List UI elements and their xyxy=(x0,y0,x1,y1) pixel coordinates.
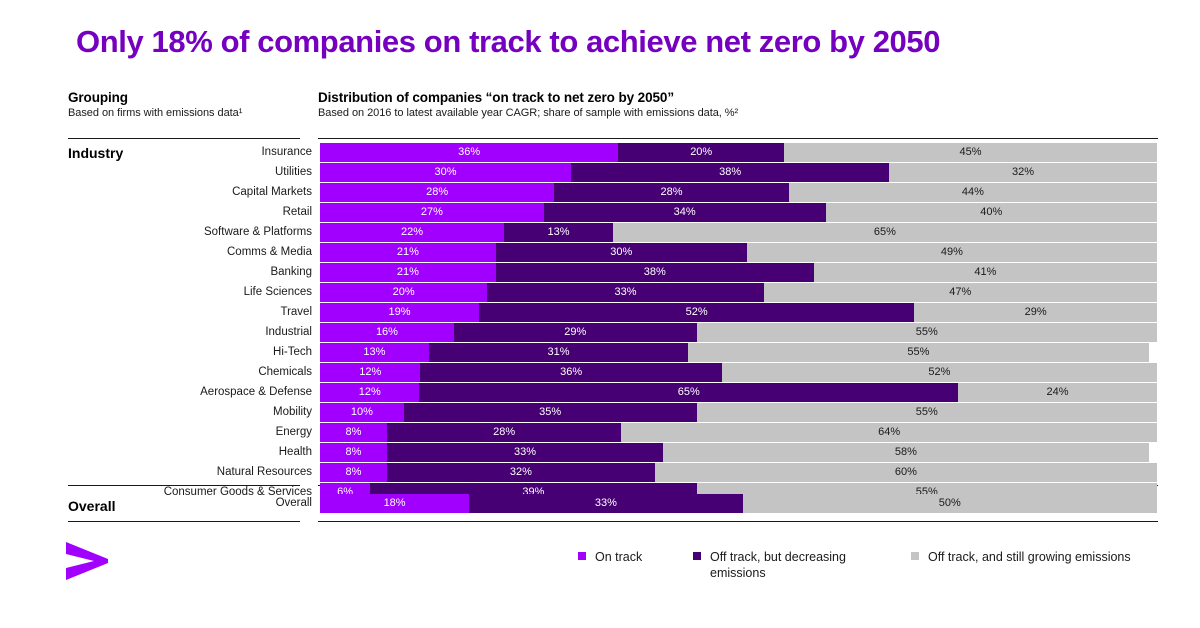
page-title: Only 18% of companies on track to achiev… xyxy=(76,24,1156,60)
bar-segment-off-track-decreasing: 33% xyxy=(387,443,663,462)
chart-row-overall: Overall18%33%50% xyxy=(0,494,1200,513)
bar-segment-on-track: 21% xyxy=(320,243,496,262)
bar-segment-off-track-growing: 41% xyxy=(814,263,1157,282)
grouping-heading: Grouping xyxy=(68,90,298,105)
row-category-label: Mobility xyxy=(100,403,312,422)
row-category-label: Comms & Media xyxy=(100,243,312,262)
bar-segment-on-track: 18% xyxy=(320,494,469,513)
legend-swatch-icon xyxy=(578,552,586,560)
bar-segment-off-track-growing: 55% xyxy=(697,403,1157,422)
row-category-label: Energy xyxy=(100,423,312,442)
row-category-label: Capital Markets xyxy=(100,183,312,202)
bar-segment-on-track: 19% xyxy=(320,303,479,322)
bar-segment-off-track-decreasing: 33% xyxy=(469,494,742,513)
legend-item: Off track, but decreasing emissions xyxy=(693,549,893,581)
bar-segment-off-track-growing: 40% xyxy=(826,203,1157,222)
accenture-logo-icon xyxy=(64,540,110,582)
row-category-label: Health xyxy=(100,443,312,462)
chart-row: Retail27%34%40% xyxy=(0,203,1200,222)
bar-segment-off-track-growing: 49% xyxy=(747,243,1157,262)
row-category-label: Chemicals xyxy=(100,363,312,382)
row-category-label: Insurance xyxy=(100,143,312,162)
bar-segment-off-track-decreasing: 33% xyxy=(487,283,763,302)
chart-row: Software & Platforms22%13%65% xyxy=(0,223,1200,242)
stacked-bar: 19%52%29% xyxy=(320,303,1157,322)
row-category-label: Banking xyxy=(100,263,312,282)
stacked-bar: 10%35%55% xyxy=(320,403,1157,422)
row-category-label: Software & Platforms xyxy=(100,223,312,242)
bar-segment-off-track-growing: 50% xyxy=(743,494,1157,513)
bar-segment-off-track-decreasing: 36% xyxy=(420,363,721,382)
bar-segment-off-track-growing: 44% xyxy=(789,183,1157,202)
legend-label: Off track, but decreasing emissions xyxy=(710,549,893,581)
bar-segment-off-track-decreasing: 30% xyxy=(496,243,747,262)
bar-segment-on-track: 13% xyxy=(320,343,429,362)
bar-segment-on-track: 8% xyxy=(320,443,387,462)
distribution-subheading: Based on 2016 to latest available year C… xyxy=(318,107,1178,119)
stacked-bar: 8%33%58% xyxy=(320,443,1157,462)
bar-segment-off-track-decreasing: 38% xyxy=(571,163,889,182)
bar-segment-off-track-growing: 52% xyxy=(722,363,1157,382)
industry-rows: Insurance36%20%45%Utilities30%38%32%Capi… xyxy=(0,143,1200,503)
bar-segment-off-track-decreasing: 31% xyxy=(429,343,688,362)
bar-segment-off-track-growing: 65% xyxy=(613,223,1157,242)
bar-segment-on-track: 12% xyxy=(320,383,419,402)
chart-row: Industrial16%29%55% xyxy=(0,323,1200,342)
legend-label: On track xyxy=(595,549,642,565)
bar-segment-on-track: 36% xyxy=(320,143,618,162)
bar-segment-off-track-decreasing: 28% xyxy=(387,423,621,442)
bar-segment-on-track: 8% xyxy=(320,463,387,482)
bar-segment-on-track: 22% xyxy=(320,223,504,242)
stacked-bar: 22%13%65% xyxy=(320,223,1157,242)
bar-segment-off-track-decreasing: 34% xyxy=(544,203,826,222)
bar-segment-off-track-growing: 29% xyxy=(914,303,1157,322)
bar-segment-off-track-decreasing: 28% xyxy=(554,183,788,202)
bar-segment-off-track-decreasing: 20% xyxy=(618,143,784,162)
stacked-bar: 21%30%49% xyxy=(320,243,1157,262)
stacked-bar: 8%28%64% xyxy=(320,423,1157,442)
chart-row: Chemicals12%36%52% xyxy=(0,363,1200,382)
bar-segment-off-track-growing: 32% xyxy=(889,163,1157,182)
row-category-label: Aerospace & Defense xyxy=(100,383,312,402)
chart-row: Capital Markets28%28%44% xyxy=(0,183,1200,202)
bar-segment-on-track: 30% xyxy=(320,163,571,182)
legend-item: Off track, and still growing emissions xyxy=(911,549,1141,565)
bar-segment-on-track: 8% xyxy=(320,423,387,442)
bar-segment-off-track-growing: 60% xyxy=(655,463,1157,482)
distribution-heading: Distribution of companies “on track to n… xyxy=(318,90,1178,105)
bar-segment-on-track: 21% xyxy=(320,263,496,282)
stacked-bar: 13%31%55% xyxy=(320,343,1157,362)
bar-segment-off-track-growing: 55% xyxy=(688,343,1148,362)
chart-row: Banking21%38%41% xyxy=(0,263,1200,282)
bar-segment-off-track-decreasing: 35% xyxy=(404,403,697,422)
divider-left-overall-bottom xyxy=(68,521,300,522)
chart-row: Comms & Media21%30%49% xyxy=(0,243,1200,262)
row-category-label: Life Sciences xyxy=(100,283,312,302)
stacked-bar: 18%33%50% xyxy=(320,494,1157,513)
bar-segment-on-track: 20% xyxy=(320,283,487,302)
bar-segment-off-track-growing: 24% xyxy=(958,383,1157,402)
divider-right-top xyxy=(318,138,1158,139)
legend-item: On track xyxy=(578,549,698,565)
grouping-column-header: Grouping Based on firms with emissions d… xyxy=(68,90,298,119)
row-category-label: Overall xyxy=(100,494,312,513)
stacked-bar: 12%36%52% xyxy=(320,363,1157,382)
row-category-label: Industrial xyxy=(100,323,312,342)
bar-segment-off-track-growing: 55% xyxy=(697,323,1157,342)
bar-segment-off-track-decreasing: 65% xyxy=(419,383,958,402)
bar-segment-on-track: 16% xyxy=(320,323,454,342)
row-category-label: Retail xyxy=(100,203,312,222)
stacked-bar: 8%32%60% xyxy=(320,463,1157,482)
legend-label: Off track, and still growing emissions xyxy=(928,549,1131,565)
stacked-bar: 16%29%55% xyxy=(320,323,1157,342)
bar-segment-off-track-decreasing: 13% xyxy=(504,223,613,242)
bar-segment-on-track: 10% xyxy=(320,403,404,422)
bar-segment-on-track: 28% xyxy=(320,183,554,202)
bar-segment-on-track: 12% xyxy=(320,363,420,382)
chart-row: Life Sciences20%33%47% xyxy=(0,283,1200,302)
stacked-bar: 36%20%45% xyxy=(320,143,1157,162)
chart-row: Aerospace & Defense12%65%24% xyxy=(0,383,1200,402)
distribution-column-header: Distribution of companies “on track to n… xyxy=(318,90,1178,119)
grouping-subheading: Based on firms with emissions data¹ xyxy=(68,107,298,119)
bar-segment-off-track-growing: 58% xyxy=(663,443,1148,462)
chart-row: Utilities30%38%32% xyxy=(0,163,1200,182)
row-category-label: Natural Resources xyxy=(100,463,312,482)
stacked-bar: 20%33%47% xyxy=(320,283,1157,302)
chart-page: Only 18% of companies on track to achiev… xyxy=(0,0,1200,628)
overall-row-wrap: Overall18%33%50% xyxy=(0,494,1200,515)
bar-segment-off-track-growing: 64% xyxy=(621,423,1157,442)
chart-row: Health8%33%58% xyxy=(0,443,1200,462)
bar-segment-off-track-decreasing: 32% xyxy=(387,463,655,482)
divider-right-overall-bottom xyxy=(318,521,1158,522)
chart-row: Mobility10%35%55% xyxy=(0,403,1200,422)
bar-segment-off-track-growing: 47% xyxy=(764,283,1157,302)
bar-segment-off-track-growing: 45% xyxy=(784,143,1157,162)
divider-left-top xyxy=(68,138,300,139)
bar-segment-off-track-decreasing: 38% xyxy=(496,263,814,282)
bar-segment-on-track: 27% xyxy=(320,203,544,222)
stacked-bar: 30%38%32% xyxy=(320,163,1157,182)
row-category-label: Utilities xyxy=(100,163,312,182)
row-category-label: Hi-Tech xyxy=(100,343,312,362)
row-category-label: Travel xyxy=(100,303,312,322)
legend-swatch-icon xyxy=(911,552,919,560)
chart-row: Energy8%28%64% xyxy=(0,423,1200,442)
bar-segment-off-track-decreasing: 52% xyxy=(479,303,914,322)
chart-row: Insurance36%20%45% xyxy=(0,143,1200,162)
stacked-bar: 27%34%40% xyxy=(320,203,1157,222)
stacked-bar: 12%65%24% xyxy=(320,383,1157,402)
chart-row: Natural Resources8%32%60% xyxy=(0,463,1200,482)
chart-row: Travel19%52%29% xyxy=(0,303,1200,322)
bar-segment-off-track-decreasing: 29% xyxy=(454,323,697,342)
stacked-bar: 21%38%41% xyxy=(320,263,1157,282)
legend-swatch-icon xyxy=(693,552,701,560)
chart-row: Hi-Tech13%31%55% xyxy=(0,343,1200,362)
stacked-bar: 28%28%44% xyxy=(320,183,1157,202)
